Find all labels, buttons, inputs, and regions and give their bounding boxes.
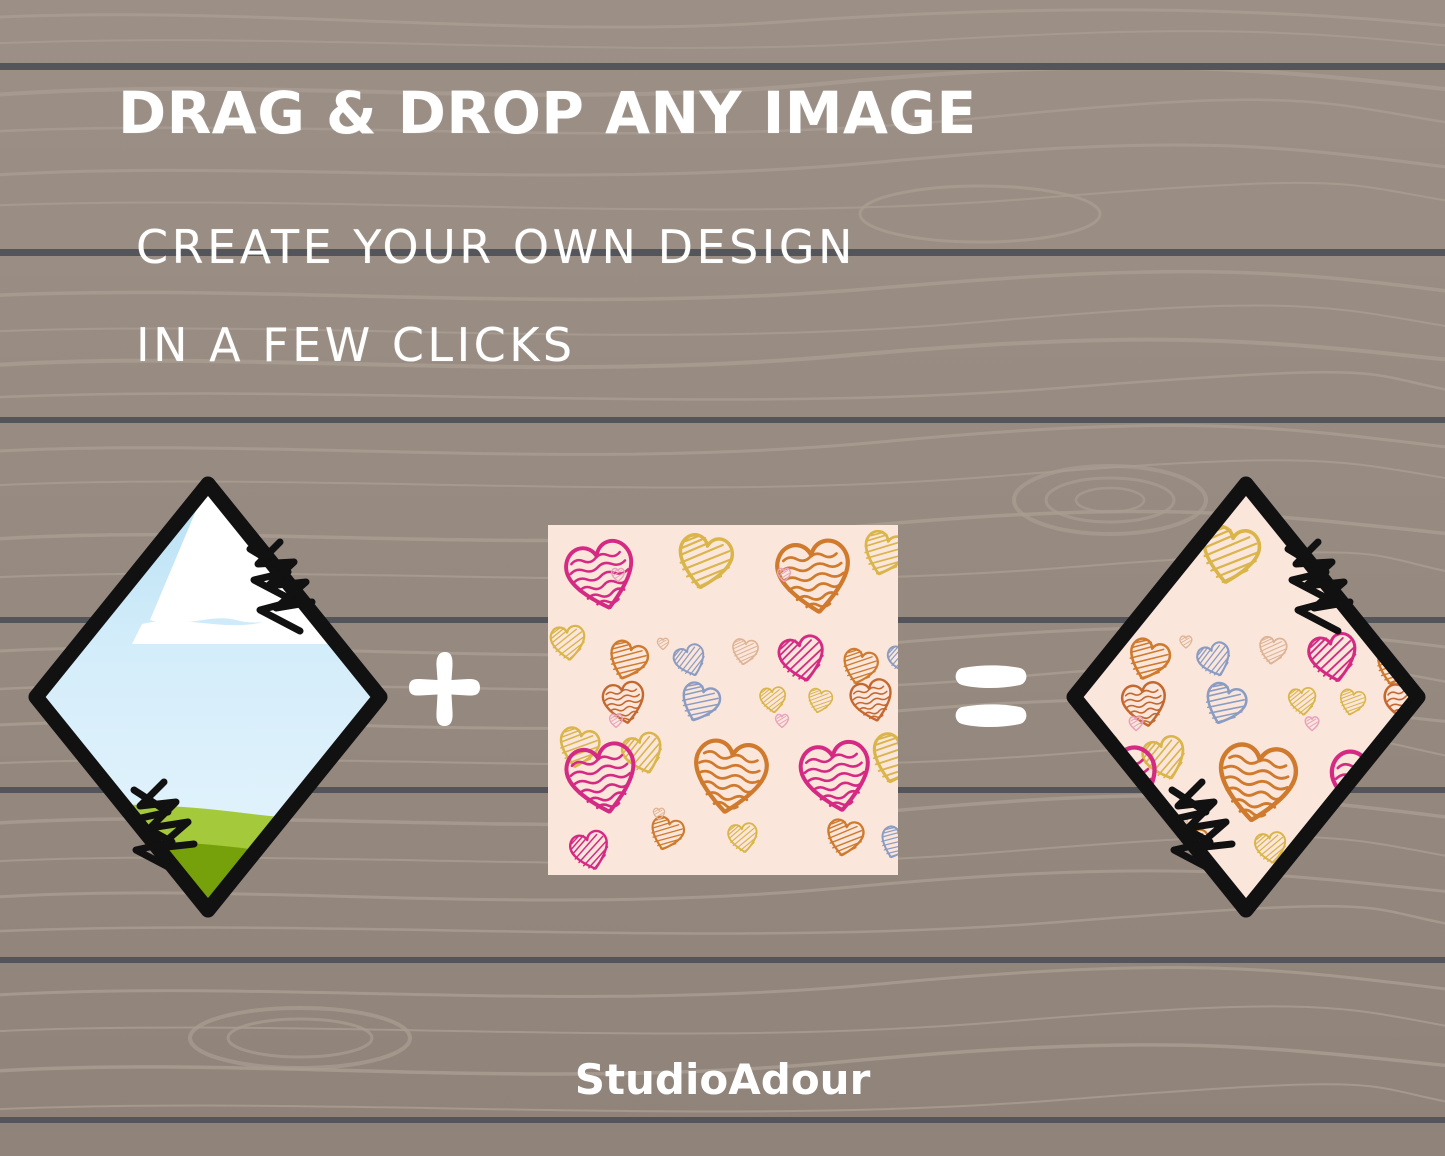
result-patterned-kite[interactable] [1052, 468, 1432, 948]
subtitle-line-1: CREATE YOUR OWN DESIGN [136, 224, 856, 270]
subtitle-line-2: IN A FEW CLICKS [136, 322, 576, 368]
equals-glyph [950, 660, 1032, 734]
heart-pattern-tile [548, 525, 898, 875]
plus-sign-icon [406, 646, 484, 732]
equals-sign-icon [950, 660, 1032, 734]
headline-block: DRAG & DROP ANY IMAGE CREATE YOUR OWN DE… [118, 84, 1018, 142]
brand-wordmark: StudioAdour [0, 1055, 1445, 1104]
page-title: DRAG & DROP ANY IMAGE [118, 84, 1018, 142]
source-landscape-kite[interactable] [22, 468, 402, 948]
heart-orange [1357, 827, 1400, 870]
promo-canvas: DRAG & DROP ANY IMAGE CREATE YOUR OWN DE… [0, 0, 1445, 1156]
landscape-photo [22, 468, 402, 948]
plus-glyph [406, 646, 484, 732]
mini-heart-light_pink [1131, 562, 1145, 576]
heart-magenta [1085, 838, 1133, 886]
applied-heart-pattern [1052, 468, 1445, 948]
heart-pattern-swatch[interactable] [548, 525, 898, 875]
